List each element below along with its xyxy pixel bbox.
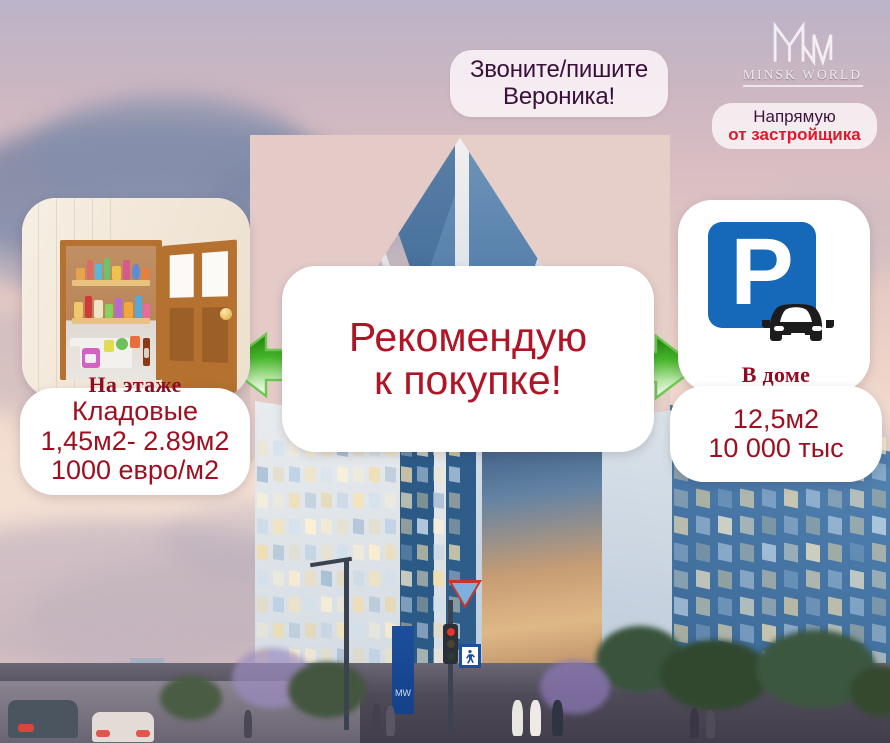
- yield-sign-inner: [452, 583, 478, 605]
- recommendation-card[interactable]: Рекомендую к покупке!: [282, 266, 654, 452]
- center-card-line-1: Рекомендую: [349, 316, 587, 359]
- mw-monogram-icon: [767, 18, 839, 66]
- left-card-line-2: 1,45м2- 2.89м2: [41, 427, 230, 456]
- shelf-lower: [72, 318, 150, 324]
- car-icon: [760, 286, 852, 348]
- storage-room-illustration: [22, 198, 250, 398]
- contact-speech-bubble[interactable]: Звоните/пишите Вероника!: [450, 50, 668, 117]
- right-card-line-1: 12,5м2: [733, 405, 819, 434]
- shelf-upper: [72, 280, 150, 286]
- poster-canvas: MW Звоните/пишите Вероника!: [0, 0, 890, 743]
- speech-bubble-line-2: Вероника!: [470, 84, 648, 111]
- mw-street-banner-logo: MW: [394, 686, 412, 700]
- direct-from-developer-badge[interactable]: Напрямую от застройщика: [712, 103, 877, 149]
- storage-info-card[interactable]: Кладовые 1,45м2- 2.89м2 1000 евро/м2: [20, 388, 250, 495]
- traffic-pole: [448, 600, 453, 732]
- door-knob: [220, 308, 232, 320]
- left-card-line-1: Кладовые: [72, 397, 198, 426]
- traffic-light-red: [447, 628, 455, 636]
- left-card-header-wrap: На этаже: [20, 372, 250, 398]
- speech-bubble-line-1: Звоните/пишите: [470, 57, 648, 84]
- street-lamp-pole: [344, 560, 349, 730]
- right-card-line-2: 10 000 тыс: [708, 434, 843, 463]
- left-card-header: На этаже: [88, 372, 181, 397]
- traffic-light-amber: [447, 640, 455, 648]
- badge-line-1: Напрямую: [753, 108, 836, 126]
- logo-wordmark: MINSK WORLD: [743, 67, 862, 83]
- center-card-line-2: к покупке!: [374, 359, 562, 402]
- mw-street-banner: [392, 626, 414, 714]
- logo-underline: [743, 85, 863, 87]
- right-card-header-wrap: В доме: [670, 362, 882, 388]
- right-card-header: В доме: [742, 362, 810, 387]
- badge-line-2: от застройщика: [728, 125, 860, 144]
- left-card-line-3: 1000 евро/м2: [51, 456, 219, 485]
- pedestrian-crossing-sign-face: [462, 647, 478, 665]
- minsk-world-logo[interactable]: MINSK WORLD: [735, 18, 870, 96]
- parking-info-card[interactable]: 12,5м2 10 000 тыс: [670, 386, 882, 482]
- traffic-light-green: [447, 652, 455, 660]
- storage-illustration-card[interactable]: [22, 198, 250, 398]
